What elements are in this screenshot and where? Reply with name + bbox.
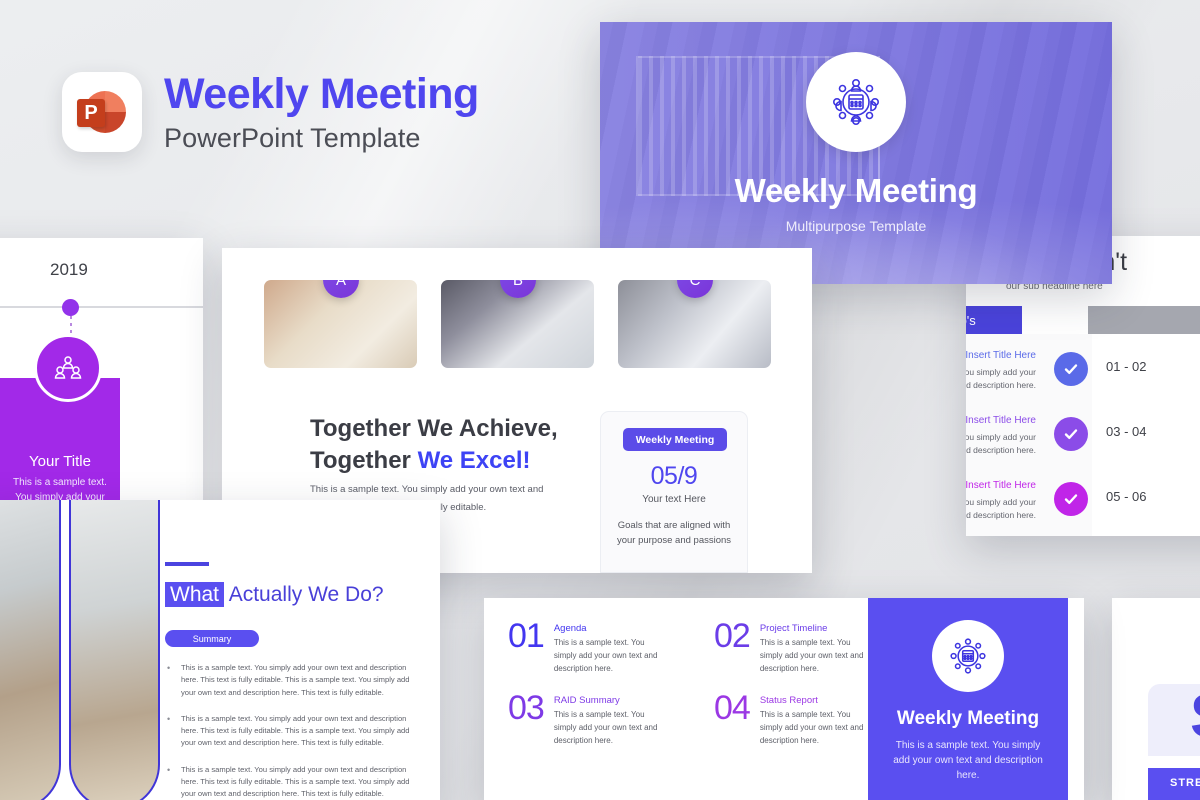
photo-badge-a: A <box>323 280 359 298</box>
title-accent-bar <box>165 562 209 566</box>
list-item: This is a sample text. You simply add yo… <box>165 764 415 800</box>
agenda-text: Project Timeline This is a sample text. … <box>760 620 864 676</box>
tab-dos[interactable]: Do's <box>966 306 1022 334</box>
office-meeting-photo-2 <box>69 500 160 800</box>
tab-donts[interactable] <box>1088 306 1200 334</box>
agenda-side-panel: Weekly Meeting This is a sample text. Yo… <box>868 598 1068 800</box>
agenda-body: This is a sample text. You simply add yo… <box>760 637 864 676</box>
timeline-marker <box>62 299 79 316</box>
powerpoint-glyph: P <box>76 86 128 138</box>
dos-range-3: 05 - 06 <box>1106 489 1146 504</box>
center-heading: Together We Achieve, Together We Excel! <box>310 413 558 476</box>
photo-badge-c: C <box>677 280 713 298</box>
meeting-table-calendar-icon <box>932 620 1004 692</box>
stat-goal-text: Goals that are aligned with your purpose… <box>615 518 733 548</box>
agenda-text: Status Report This is a sample text. You… <box>760 692 864 748</box>
timeline-axis <box>0 306 203 308</box>
center-heading-line2: Together We Excel! <box>310 445 558 477</box>
dos-row-title: Insert Title Here <box>966 480 1036 491</box>
dos-row-2: Insert Title Here This is a sample text.… <box>966 409 1092 475</box>
slide-what-we-do[interactable]: What Actually We Do? Summary This is a s… <box>0 500 440 800</box>
center-heading-accent: We Excel! <box>418 447 531 474</box>
page-subtitle: PowerPoint Template <box>164 125 479 152</box>
agenda-number: 03 <box>508 692 544 748</box>
photo-badge-b: B <box>500 280 536 298</box>
powerpoint-letter: P <box>77 99 105 127</box>
slide-hero[interactable]: Weekly Meeting Multipurpose Template <box>600 22 1112 284</box>
list-item: This is a sample text. You simply add yo… <box>165 662 415 699</box>
agenda-text: Agenda This is a sample text. You simply… <box>554 620 658 676</box>
agenda-title: Agenda <box>554 623 658 634</box>
hero-content: Weekly Meeting Multipurpose Template <box>600 22 1112 284</box>
celebration-photo: C <box>618 280 771 368</box>
hero-title: Weekly Meeting <box>735 172 978 210</box>
people-group-icon <box>34 334 102 402</box>
what-bullet-list: This is a sample text. You simply add yo… <box>165 662 415 800</box>
agenda-number: 04 <box>714 692 750 748</box>
header: P Weekly Meeting PowerPoint Template <box>62 72 479 152</box>
timeline-year: 2019 <box>50 260 88 280</box>
what-title: What Actually We Do? <box>165 583 384 607</box>
swot-letter: S <box>1190 686 1200 748</box>
weekly-meeting-badge[interactable]: Weekly Meeting <box>623 428 727 451</box>
agenda-body: This is a sample text. You simply add yo… <box>760 709 864 748</box>
dos-row-3: Insert Title Here This is a sample text.… <box>966 474 1092 536</box>
what-title-rest: Actually We Do? <box>229 583 384 606</box>
check-icon <box>1054 482 1088 516</box>
center-heading-line1: Together We Achieve, <box>310 413 558 445</box>
list-item: This is a sample text. You simply add yo… <box>165 713 415 750</box>
agenda-grid: 01 Agenda This is a sample text. You sim… <box>508 620 898 748</box>
agenda-body: This is a sample text. You simply add yo… <box>554 637 658 676</box>
slide-swot[interactable]: S STREN <box>1112 598 1200 800</box>
powerpoint-icon: P <box>62 72 142 152</box>
what-photo-group <box>0 500 160 800</box>
slide-agenda[interactable]: 01 Agenda This is a sample text. You sim… <box>484 598 1084 800</box>
check-icon <box>1054 417 1088 451</box>
page-title: Weekly Meeting <box>164 73 479 116</box>
dos-row-body: This is a sample text. You simply add yo… <box>966 496 1036 522</box>
center-stat-card: Weekly Meeting 05/9 Your text Here Goals… <box>600 411 748 573</box>
dos-row-title: Insert Title Here <box>966 350 1036 361</box>
agenda-item-1: 01 Agenda This is a sample text. You sim… <box>508 620 692 676</box>
what-title-highlight: What <box>165 582 224 607</box>
photo-row: A B C <box>264 280 771 368</box>
dos-row-title: Insert Title Here <box>966 415 1036 426</box>
stat-number: 05/9 <box>601 462 747 491</box>
whiteboard-photo: B <box>441 280 594 368</box>
dos-row-body: This is a sample text. You simply add yo… <box>966 431 1036 457</box>
slide-timeline[interactable]: 2019 Your Title This is a sample text. Y… <box>0 238 203 538</box>
center-heading-plain: Together <box>310 447 418 474</box>
agenda-number: 02 <box>714 620 750 676</box>
agenda-panel-body: This is a sample text. You simply add yo… <box>893 738 1043 783</box>
timeline-card-title: Your Title <box>0 453 120 470</box>
agenda-title: Project Timeline <box>760 623 864 634</box>
office-meeting-photo-1 <box>0 500 61 800</box>
handshake-photo: A <box>264 280 417 368</box>
dos-row-body: This is a sample text. You simply add yo… <box>966 366 1036 392</box>
summary-pill[interactable]: Summary <box>165 630 259 647</box>
agenda-number: 01 <box>508 620 544 676</box>
agenda-panel-title: Weekly Meeting <box>897 708 1039 730</box>
swot-band-label: STREN <box>1148 768 1200 800</box>
agenda-title: Status Report <box>760 695 864 706</box>
meeting-table-calendar-icon <box>806 52 906 152</box>
agenda-body: This is a sample text. You simply add yo… <box>554 709 658 748</box>
dos-row-1: Insert Title Here This is a sample text.… <box>966 344 1092 410</box>
dos-range-2: 03 - 04 <box>1106 424 1146 439</box>
agenda-title: RAID Summary <box>554 695 658 706</box>
hero-subtitle: Multipurpose Template <box>786 218 927 234</box>
dos-range-1: 01 - 02 <box>1106 359 1146 374</box>
agenda-text: RAID Summary This is a sample text. You … <box>554 692 658 748</box>
agenda-item-3: 03 RAID Summary This is a sample text. Y… <box>508 692 692 748</box>
check-icon <box>1054 352 1088 386</box>
stat-label: Your text Here <box>601 494 747 505</box>
header-text: Weekly Meeting PowerPoint Template <box>164 73 479 152</box>
